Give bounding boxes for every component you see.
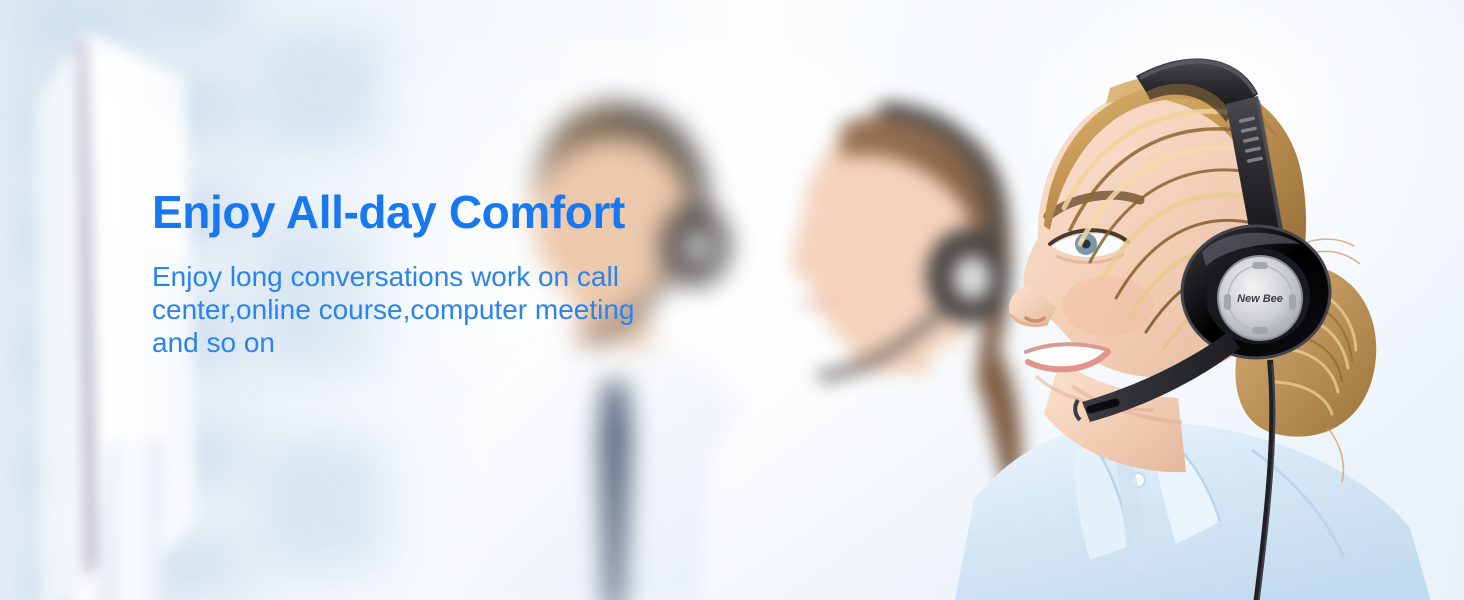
promo-banner: New Bee Enjoy All-day Comfort Enjoy long… [0,0,1464,600]
banner-copy-block: Enjoy All-day Comfort Enjoy long convers… [152,188,712,359]
page-title: Enjoy All-day Comfort [152,188,712,238]
banner-description: Enjoy long conversations work on call ce… [152,238,712,359]
earcup-brand-label: New Bee [1237,293,1283,305]
foreground-agent-with-headset: New Bee [940,30,1464,600]
